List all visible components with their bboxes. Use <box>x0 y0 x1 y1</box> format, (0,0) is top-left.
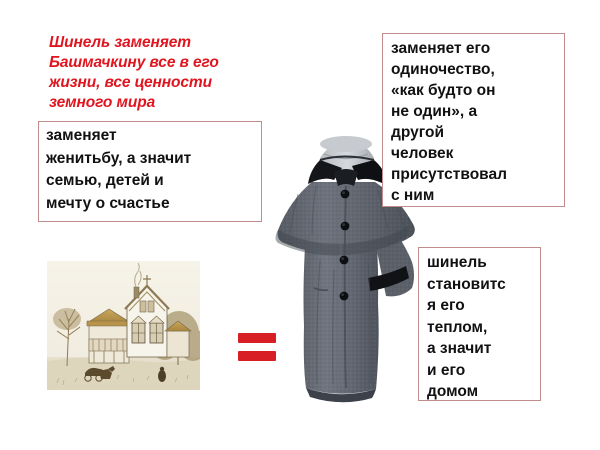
text-box-left: заменяет женитьбу, а значит семью, детей… <box>38 121 262 222</box>
equals-bar-top <box>238 333 276 343</box>
old-wooden-house-illustration <box>47 261 200 390</box>
text-box-top-right: заменяет его одиночество, «как будто он … <box>382 33 565 207</box>
text-box-bottom-right: шинель становитс я его теплом, а значит … <box>418 247 541 401</box>
equals-bar-bottom <box>238 351 276 361</box>
equals-sign-icon <box>238 333 276 363</box>
slide-canvas: Шинель заменяет Башмачкину все в его жиз… <box>0 0 600 450</box>
page-title: Шинель заменяет Башмачкину все в его жиз… <box>49 33 314 113</box>
